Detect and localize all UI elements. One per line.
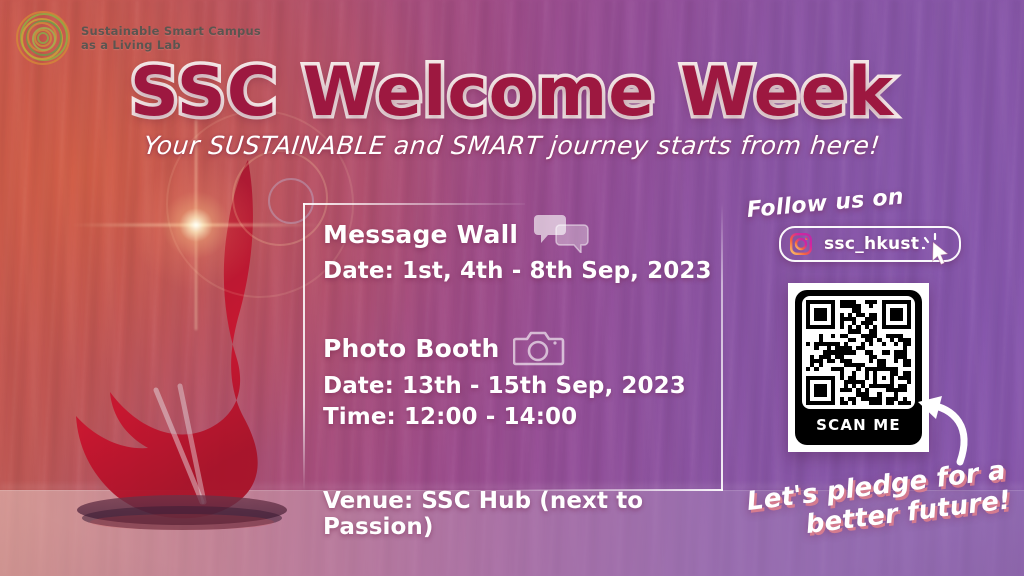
venue-text: Venue: SSC Hub (next to Passion) [323, 488, 715, 540]
message-wall-heading: Message Wall [323, 220, 518, 249]
logo-line-1: Sustainable Smart Campus [81, 24, 261, 38]
tagline: Your SUSTAINABLE and SMART journey start… [0, 131, 1024, 160]
photo-booth-heading: Photo Booth [323, 334, 499, 363]
event-venue: Venue: SSC Hub (next to Passion) [323, 488, 715, 540]
page-title: SSC Welcome Week [130, 53, 894, 132]
qr-scan-me-label: SCAN ME [816, 416, 901, 434]
event-photo-booth: Photo Booth Date: 13th - 15th Sep, 2023 … [323, 328, 715, 430]
instagram-icon [790, 233, 812, 255]
title-area: SSC Welcome Week [0, 53, 1024, 132]
qr-code-matrix [802, 296, 915, 409]
message-wall-date: Date: 1st, 4th - 8th Sep, 2023 [323, 258, 715, 284]
logo-line-2: as a Living Lab [81, 38, 261, 52]
poster-canvas: Sustainable Smart Campus as a Living Lab… [0, 0, 1024, 576]
instagram-handle-text: ssc_hkust [824, 234, 919, 254]
camera-icon [513, 328, 565, 368]
photo-booth-date: Date: 13th - 15th Sep, 2023 [323, 373, 715, 399]
panel-border-right [721, 203, 723, 491]
panel-border-top [303, 203, 525, 205]
qr-code-card[interactable]: SCAN ME [788, 283, 929, 452]
logo-wordmark: Sustainable Smart Campus as a Living Lab [81, 24, 261, 52]
event-message-wall: Message Wall Date: 1st, 4th - 8th Sep, 2… [323, 215, 715, 284]
curved-arrow-icon [916, 392, 978, 470]
photo-booth-time: Time: 12:00 - 14:00 [323, 404, 715, 430]
click-cursor-icon [922, 233, 956, 267]
event-info-panel: Message Wall Date: 1st, 4th - 8th Sep, 2… [303, 203, 723, 491]
panel-border-left [303, 203, 305, 491]
speech-bubbles-icon [532, 215, 590, 253]
qr-code-body: SCAN ME [795, 290, 922, 445]
